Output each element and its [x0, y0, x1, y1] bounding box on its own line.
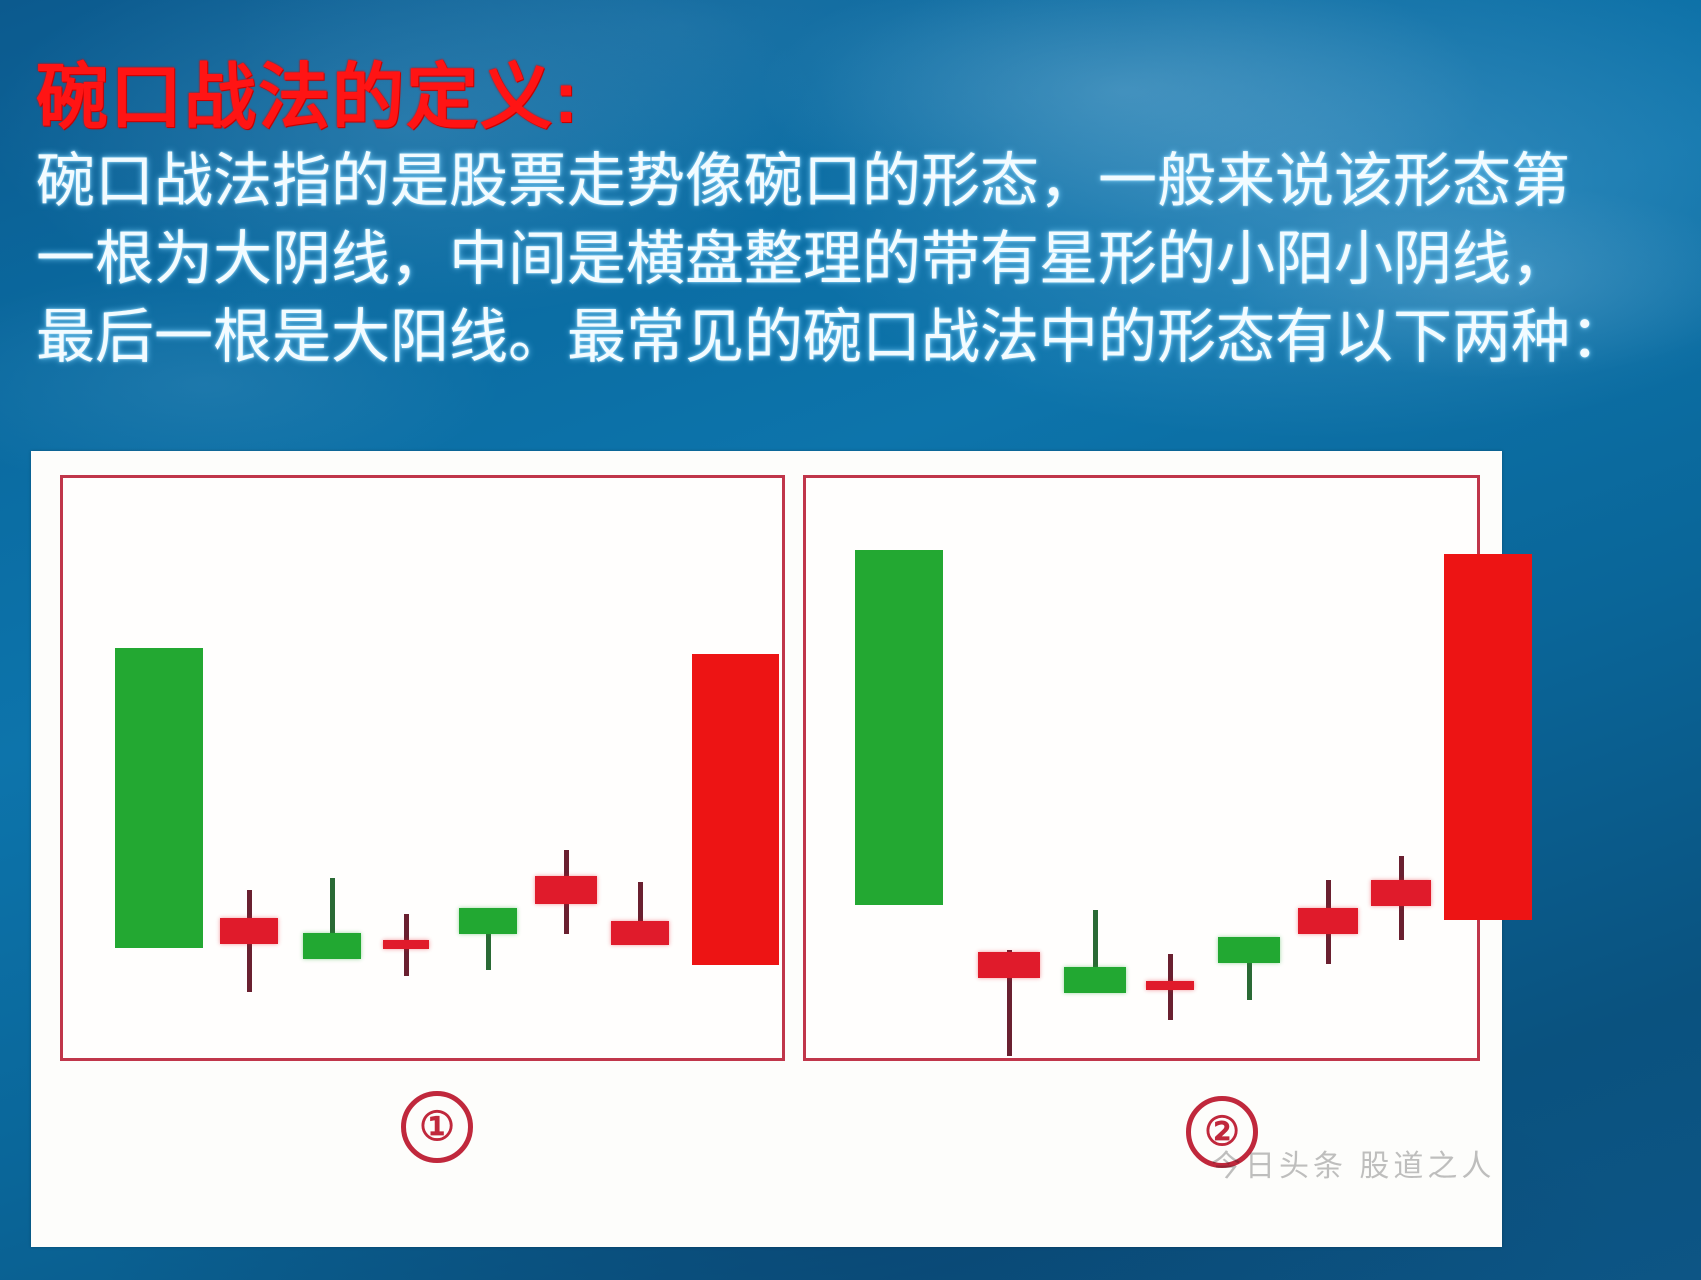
- candle-body: [1064, 967, 1126, 993]
- candlestick-chart-2: [806, 478, 1477, 1058]
- candle-2-1: [855, 478, 943, 1054]
- candle-1-3: [303, 478, 361, 1054]
- candle-2-4: [1146, 478, 1194, 1054]
- body-line-3: 最后一根是大阳线。最常见的碗口战法中的形态有以下两种：: [36, 298, 1666, 376]
- candle-body: [303, 933, 361, 959]
- candle-2-3: [1064, 478, 1126, 1054]
- candle-1-8: [692, 478, 779, 1054]
- candle-body: [1444, 554, 1532, 920]
- candle-2-7: [1371, 478, 1431, 1054]
- chart-card: ① ② 今日头条 股道之人: [31, 451, 1502, 1247]
- candlestick-panel-2: [803, 475, 1480, 1061]
- candle-body: [535, 876, 597, 904]
- candlestick-chart-1: [63, 478, 782, 1058]
- candle-body: [1146, 981, 1194, 990]
- candle-body: [115, 648, 203, 948]
- candle-2-2: [978, 478, 1040, 1054]
- page-title: 碗口战法的定义:: [36, 38, 580, 143]
- body-paragraph: 碗口战法指的是股票走势像碗口的形态，一般来说该形态第 一根为大阴线，中间是横盘整…: [36, 142, 1666, 376]
- candle-body: [1218, 937, 1280, 963]
- candle-1-4: [383, 478, 429, 1054]
- candle-1-2: [220, 478, 278, 1054]
- candle-1-1: [115, 478, 203, 1054]
- candle-body: [855, 550, 943, 905]
- candle-body: [220, 918, 278, 944]
- candle-body: [459, 908, 517, 934]
- candle-body: [383, 940, 429, 949]
- watermark-text: 今日头条 股道之人: [1211, 1141, 1495, 1185]
- candle-2-8: [1444, 478, 1532, 1054]
- candle-1-5: [459, 478, 517, 1054]
- candle-body: [692, 654, 779, 965]
- candlestick-panel-1: [60, 475, 785, 1061]
- body-line-2: 一根为大阴线，中间是横盘整理的带有星形的小阳小阴线，: [36, 220, 1666, 298]
- candle-2-5: [1218, 478, 1280, 1054]
- candle-body: [1298, 908, 1358, 934]
- candle-body: [978, 952, 1040, 978]
- slide-root: 碗口战法的定义: 碗口战法指的是股票走势像碗口的形态，一般来说该形态第 一根为大…: [0, 0, 1701, 1280]
- body-line-1: 碗口战法指的是股票走势像碗口的形态，一般来说该形态第: [36, 142, 1666, 220]
- candle-2-6: [1298, 478, 1358, 1054]
- candle-1-7: [611, 478, 669, 1054]
- candle-1-6: [535, 478, 597, 1054]
- candle-body: [611, 921, 669, 945]
- candle-body: [1371, 880, 1431, 906]
- panel-1-label: ①: [401, 1091, 473, 1163]
